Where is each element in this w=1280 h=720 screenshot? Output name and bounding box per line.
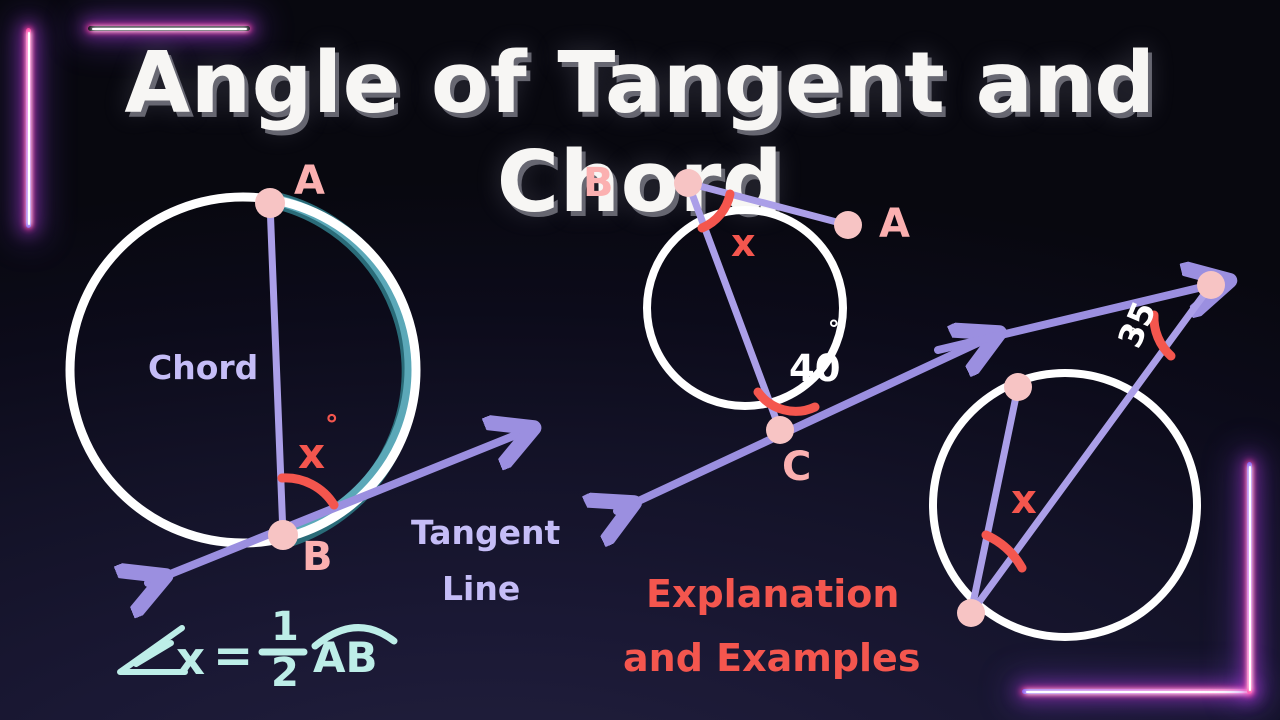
label-point-c-2: C bbox=[782, 444, 811, 490]
chord-ab-1 bbox=[270, 203, 283, 535]
label-point-a-2: A bbox=[879, 201, 910, 247]
label-angle-x-3: x bbox=[1011, 477, 1037, 523]
label-tangent-line-row2: Line bbox=[442, 569, 520, 608]
label-point-b-1: B bbox=[302, 534, 333, 580]
label-degree-x-1: ° bbox=[325, 410, 339, 441]
label-angle-x-2: x bbox=[731, 221, 756, 265]
point-b-dot-1 bbox=[268, 520, 298, 550]
footer-line-1: Explanation bbox=[646, 572, 899, 616]
label-tangent-line-row1: Tangent bbox=[411, 513, 560, 552]
point-b-dot-2 bbox=[674, 169, 702, 197]
label-angle-40-2: 40 bbox=[789, 347, 841, 390]
formula-equals: = bbox=[213, 628, 253, 684]
formula-arc-ab: AB bbox=[313, 633, 378, 682]
label-chord-1: Chord bbox=[148, 348, 258, 387]
angle-arc-x-1 bbox=[282, 478, 334, 505]
formula-variable: x bbox=[176, 632, 205, 685]
point-a-dot-2 bbox=[834, 211, 862, 239]
formula-denominator: 2 bbox=[271, 650, 299, 696]
point-bottom-dot-3 bbox=[957, 599, 985, 627]
label-point-a-1: A bbox=[294, 158, 325, 204]
point-tangent-dot-3 bbox=[1004, 373, 1032, 401]
label-degree-40-2: ° bbox=[828, 317, 840, 343]
diagram-3-group bbox=[933, 271, 1225, 637]
point-vertex-dot-3 bbox=[1197, 271, 1225, 299]
point-c-dot-2 bbox=[766, 416, 794, 444]
footer-line-2: and Examples bbox=[623, 636, 920, 680]
point-a-dot-1 bbox=[255, 188, 285, 218]
thumbnail-canvas: Angle of Tangent and Chord bbox=[0, 0, 1280, 720]
label-angle-x-1: x bbox=[298, 429, 325, 478]
formula-numerator: 1 bbox=[271, 604, 299, 650]
label-point-b-2: B bbox=[583, 160, 614, 206]
